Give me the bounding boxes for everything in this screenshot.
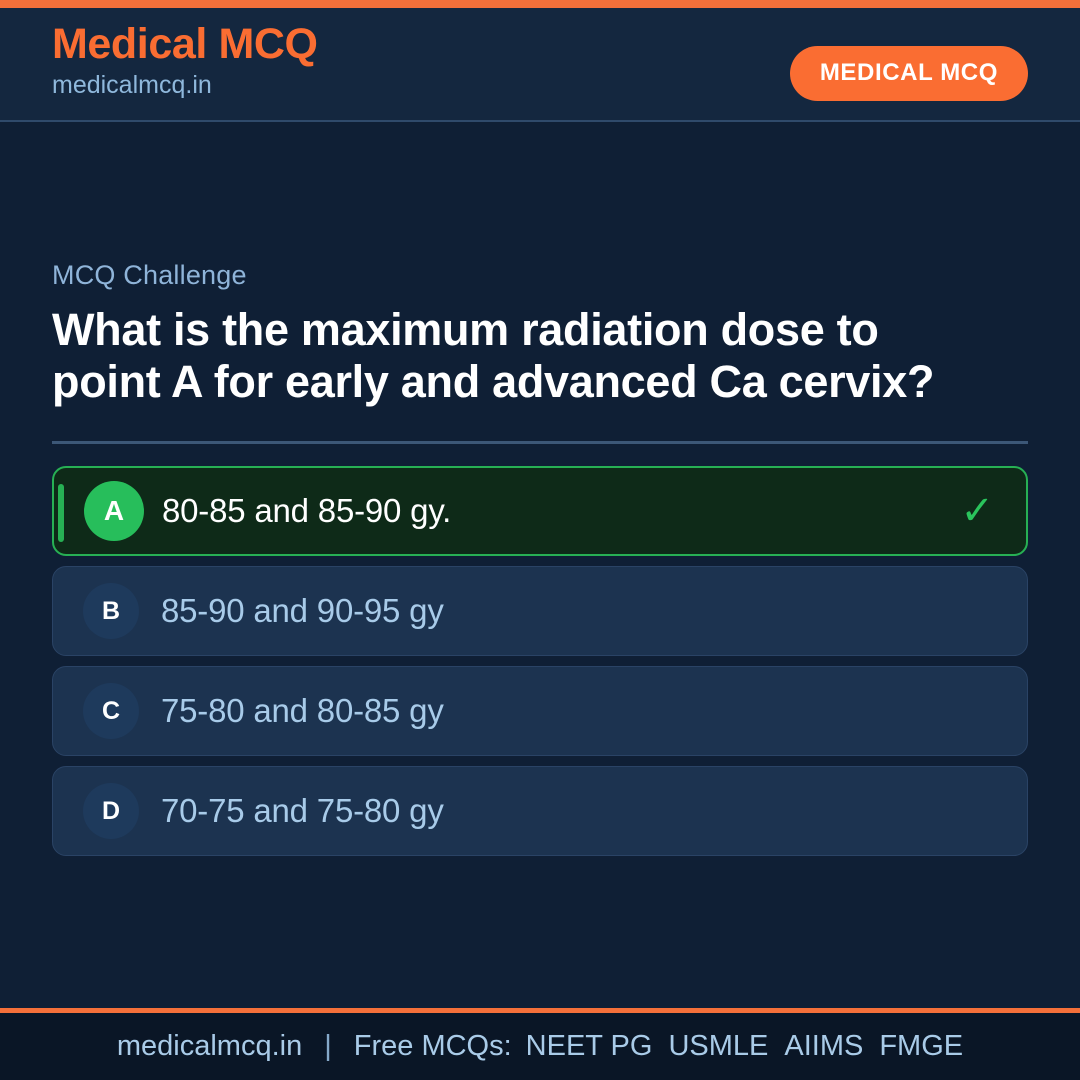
top-accent-bar bbox=[0, 0, 1080, 8]
footer-exam-neet-pg: NEET PG bbox=[526, 1030, 653, 1063]
footer-separator: | bbox=[324, 1030, 332, 1063]
footer-free-mcqs-label: Free MCQs: bbox=[354, 1030, 512, 1063]
option-row-b[interactable]: B 85-90 and 90-95 gy bbox=[52, 566, 1028, 656]
page-header: Medical MCQ medicalmcq.in MEDICAL MCQ bbox=[0, 8, 1080, 122]
option-text-b: 85-90 and 90-95 gy bbox=[161, 592, 444, 630]
option-text-c: 75-80 and 80-85 gy bbox=[161, 692, 444, 730]
option-text-a: 80-85 and 85-90 gy. bbox=[162, 492, 451, 530]
page-footer: medicalmcq.in | Free MCQs: NEET PG USMLE… bbox=[0, 1008, 1080, 1080]
question-block: MCQ Challenge What is the maximum radiat… bbox=[52, 260, 1028, 866]
check-icon: ✓ bbox=[960, 491, 994, 531]
eyebrow-label: MCQ Challenge bbox=[52, 260, 1028, 291]
option-letter-b: B bbox=[83, 583, 139, 639]
main-content: MCQ Challenge What is the maximum radiat… bbox=[0, 124, 1080, 1008]
brand: Medical MCQ medicalmcq.in bbox=[52, 22, 318, 98]
question-divider bbox=[52, 441, 1028, 444]
correct-accent-bar bbox=[58, 484, 64, 542]
brand-title: Medical MCQ bbox=[52, 22, 318, 67]
option-letter-a: A bbox=[84, 481, 144, 541]
footer-exam-fmge: FMGE bbox=[879, 1030, 963, 1063]
option-letter-d: D bbox=[83, 783, 139, 839]
brand-subtitle: medicalmcq.in bbox=[52, 72, 318, 98]
footer-site-label: medicalmcq.in bbox=[117, 1030, 302, 1063]
question-text: What is the maximum radiation dose to po… bbox=[52, 304, 982, 408]
option-row-c[interactable]: C 75-80 and 80-85 gy bbox=[52, 666, 1028, 756]
footer-exam-usmle: USMLE bbox=[668, 1030, 768, 1063]
footer-content: medicalmcq.in | Free MCQs: NEET PG USMLE… bbox=[117, 1030, 963, 1063]
option-letter-c: C bbox=[83, 683, 139, 739]
option-row-d[interactable]: D 70-75 and 75-80 gy bbox=[52, 766, 1028, 856]
header-badge: MEDICAL MCQ bbox=[790, 46, 1028, 101]
option-row-a[interactable]: A 80-85 and 85-90 gy. ✓ bbox=[52, 466, 1028, 556]
footer-exam-aiims: AIIMS bbox=[784, 1030, 863, 1063]
option-text-d: 70-75 and 75-80 gy bbox=[161, 792, 444, 830]
options-list: A 80-85 and 85-90 gy. ✓ B 85-90 and 90-9… bbox=[52, 466, 1028, 856]
